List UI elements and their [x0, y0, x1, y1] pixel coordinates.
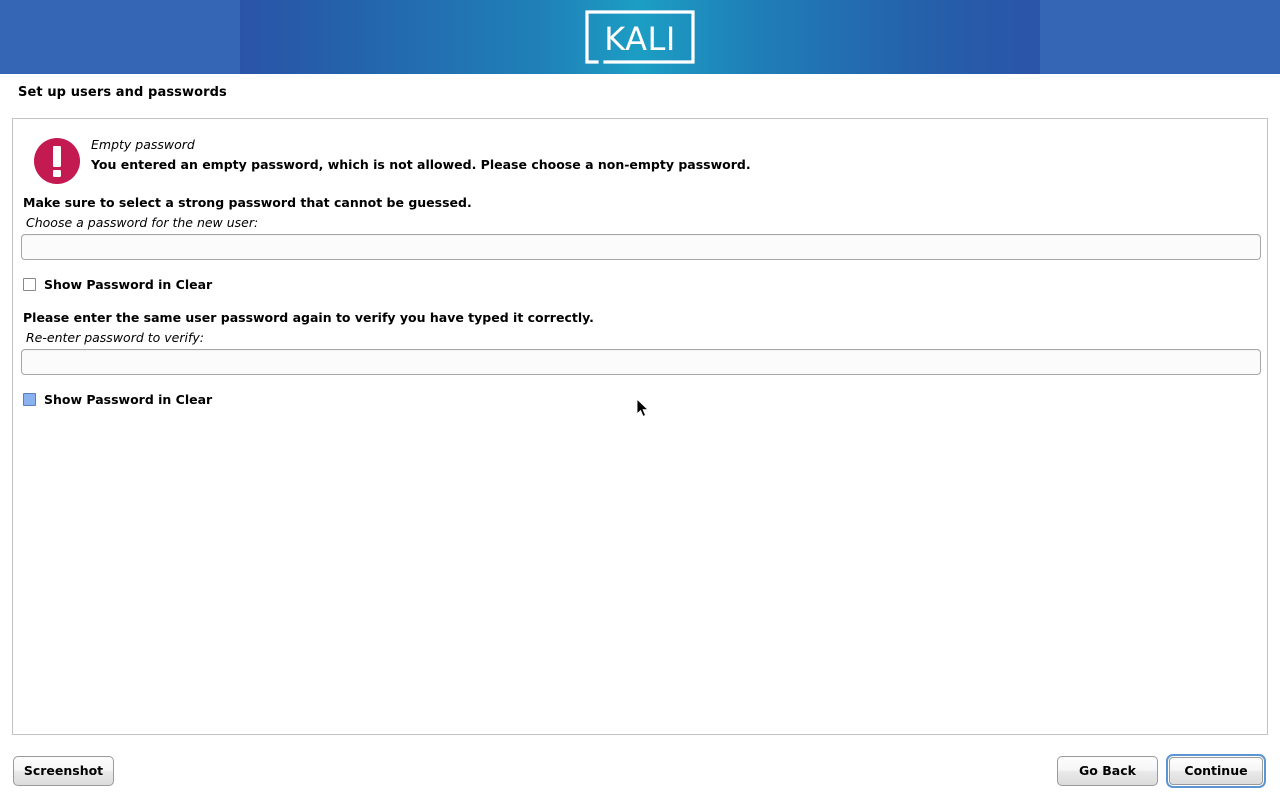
- error-text-wrapper: Empty password You entered an empty pass…: [91, 137, 751, 173]
- verify-field-label: Re-enter password to verify:: [26, 330, 204, 345]
- verify-password-input[interactable]: [21, 349, 1261, 375]
- password-field-label: Choose a password for the new user:: [26, 215, 258, 230]
- installer-content-panel: Empty password You entered an empty pass…: [12, 118, 1268, 735]
- show-password-in-clear-label-2: Show Password in Clear: [44, 392, 212, 407]
- show-password-in-clear-checkbox-2[interactable]: [23, 393, 36, 406]
- kali-logo: KALI: [583, 8, 697, 66]
- password-section-heading: Make sure to select a strong password th…: [23, 195, 472, 210]
- error-title: Empty password: [91, 137, 751, 156]
- svg-text:KALI: KALI: [604, 20, 676, 58]
- show-password-in-clear-checkbox-1[interactable]: [23, 278, 36, 291]
- password-input[interactable]: [21, 234, 1261, 260]
- verify-section-heading: Please enter the same user password agai…: [23, 310, 594, 325]
- installer-banner: KALI: [0, 0, 1280, 74]
- go-back-button[interactable]: Go Back: [1057, 756, 1158, 786]
- show-password-in-clear-row-2[interactable]: Show Password in Clear: [23, 391, 212, 407]
- show-password-in-clear-row-1[interactable]: Show Password in Clear: [23, 276, 212, 292]
- error-exclamation-icon: [33, 137, 81, 185]
- page-title: Set up users and passwords: [18, 85, 227, 100]
- continue-button[interactable]: Continue: [1169, 757, 1263, 785]
- error-message: You entered an empty password, which is …: [91, 156, 751, 173]
- show-password-in-clear-label-1: Show Password in Clear: [44, 277, 212, 292]
- screenshot-button[interactable]: Screenshot: [13, 756, 114, 786]
- error-notice: Empty password You entered an empty pass…: [23, 129, 1253, 191]
